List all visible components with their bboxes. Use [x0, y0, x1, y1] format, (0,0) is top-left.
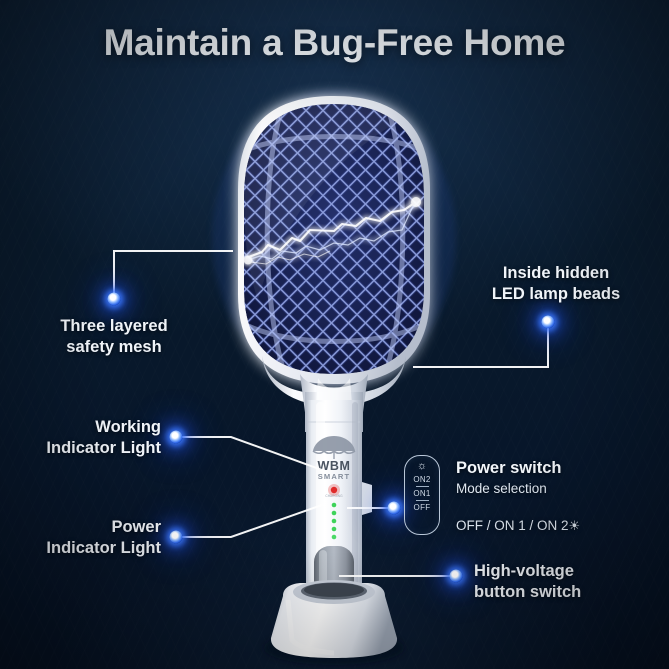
callout-label-power-indicator-light: Power Indicator Light — [0, 517, 161, 559]
mode-on2-label: ON2 — [413, 476, 430, 484]
callout-dot-three-layered-safety-mesh[interactable] — [108, 293, 121, 306]
side-switch-nub — [362, 482, 372, 515]
power-switch-mode-values-text: OFF / ON 1 / ON 2 — [456, 518, 569, 533]
mode-on1-label: ON1 — [413, 490, 430, 498]
callout-dot-working-indicator-light[interactable] — [170, 431, 183, 444]
callout-dot-power-indicator-light[interactable] — [170, 531, 183, 544]
mesh-grid — [236, 96, 436, 388]
infographic-canvas: WBM SMART CHARGING — [0, 0, 669, 669]
power-switch-mode-badge[interactable]: ☼ ON2 ON1 OFF — [404, 455, 440, 535]
light-bulb-icon: ☼ — [417, 461, 427, 472]
callout-dot-power-switch[interactable] — [388, 502, 401, 515]
callout-label-three-layered-safety-mesh: Three layered safety mesh — [14, 316, 214, 358]
power-switch-mode-values: OFF / ON 1 / ON 2☀ — [456, 498, 580, 535]
racket-head — [236, 96, 436, 388]
callout-dot-inside-hidden-led-lamp-beads[interactable] — [542, 316, 555, 329]
mode-off-label: OFF — [414, 504, 431, 512]
sun-icon: ☀ — [569, 518, 581, 533]
brand-logo: WBM SMART — [313, 436, 355, 481]
power-switch-title: Power switch — [456, 459, 561, 478]
page-title: Maintain a Bug-Free Home — [0, 22, 669, 64]
power-switch-mode-selection: Mode selection — [456, 480, 547, 499]
charging-base — [264, 580, 404, 665]
svg-text:WBM: WBM — [317, 459, 350, 473]
svg-text:CHARGING: CHARGING — [325, 494, 343, 498]
badge-divider-2 — [416, 500, 429, 501]
callout-label-working-indicator-light: Working Indicator Light — [0, 417, 161, 459]
callout-label-high-voltage-button-switch: High-voltage button switch — [474, 561, 664, 603]
callout-label-inside-hidden-led-lamp-beads: Inside hidden LED lamp beads — [456, 263, 656, 305]
badge-divider-1 — [416, 486, 429, 487]
svg-text:SMART: SMART — [318, 472, 351, 481]
callout-dot-high-voltage-button-switch[interactable] — [450, 570, 463, 583]
